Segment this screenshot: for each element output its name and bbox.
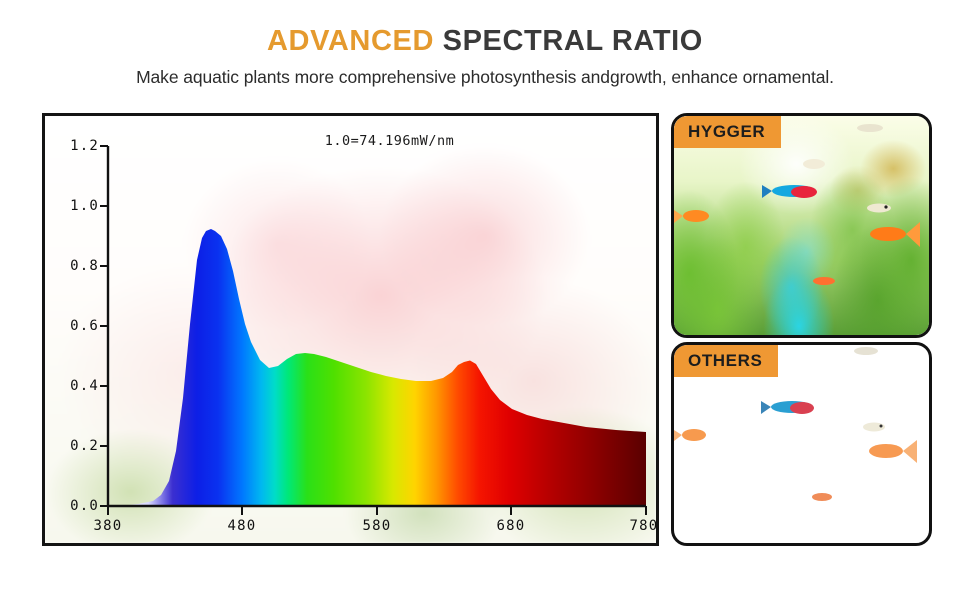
y-tick-label-0-6: 0.6 (53, 318, 99, 334)
spectrum-curve-area (108, 229, 646, 506)
y-tick-label-0-8: 0.8 (53, 258, 99, 274)
fish-small-mid (867, 204, 891, 213)
fish-neon-tetra (761, 401, 814, 414)
aquarium-fish-layer-hygger (674, 116, 929, 335)
page-title-rest: SPECTRAL RATIO (434, 25, 703, 57)
fish-pale-upper (803, 159, 825, 169)
spectrum-chart-panel: 1.0=74.196mW/nm (42, 113, 659, 546)
spectral-ratio-infographic: ADVANCED SPECTRAL RATIO Make aquatic pla… (0, 0, 970, 600)
x-axis-ticks (108, 506, 646, 515)
page-title-accent: ADVANCED (267, 25, 434, 57)
x-tick-label-780: 780 (623, 518, 659, 534)
page-title: ADVANCED SPECTRAL RATIO (0, 0, 970, 56)
aquarium-photo-hygger (674, 116, 929, 335)
y-tick-label-0-2: 0.2 (53, 438, 99, 454)
spectrum-chart-svg (45, 116, 656, 543)
y-tick-label-0-0: 0.0 (53, 498, 99, 514)
x-tick-label-380: 380 (87, 518, 129, 534)
photo-panel-hygger: HYGGER (671, 113, 932, 338)
fish-small-lower (812, 493, 832, 501)
fish-guppy-orange-right (869, 440, 917, 463)
fish-neon-tetra (762, 185, 817, 198)
y-tick-label-0-4: 0.4 (53, 378, 99, 394)
y-tick-label-1-0: 1.0 (53, 198, 99, 214)
y-tick-label-1-2: 1.2 (53, 138, 99, 154)
badge-hygger: HYGGER (674, 116, 781, 148)
fish-platy-orange-left (674, 429, 706, 441)
fish-small-mid (863, 423, 885, 432)
fish-guppy-orange-right (870, 222, 920, 247)
x-tick-label-580: 580 (356, 518, 398, 534)
x-tick-label-680: 680 (490, 518, 532, 534)
fish-platy-orange-left (674, 210, 709, 223)
fish-small-lower (813, 277, 835, 285)
badge-others: OTHERS (674, 345, 778, 377)
fish-small-top (854, 347, 878, 355)
page-subtitle: Make aquatic plants more comprehensive p… (0, 56, 970, 88)
header: ADVANCED SPECTRAL RATIO Make aquatic pla… (0, 0, 970, 88)
x-tick-label-480: 480 (221, 518, 263, 534)
fish-small-top (857, 124, 883, 132)
photo-panel-others: OTHERS (671, 342, 932, 546)
